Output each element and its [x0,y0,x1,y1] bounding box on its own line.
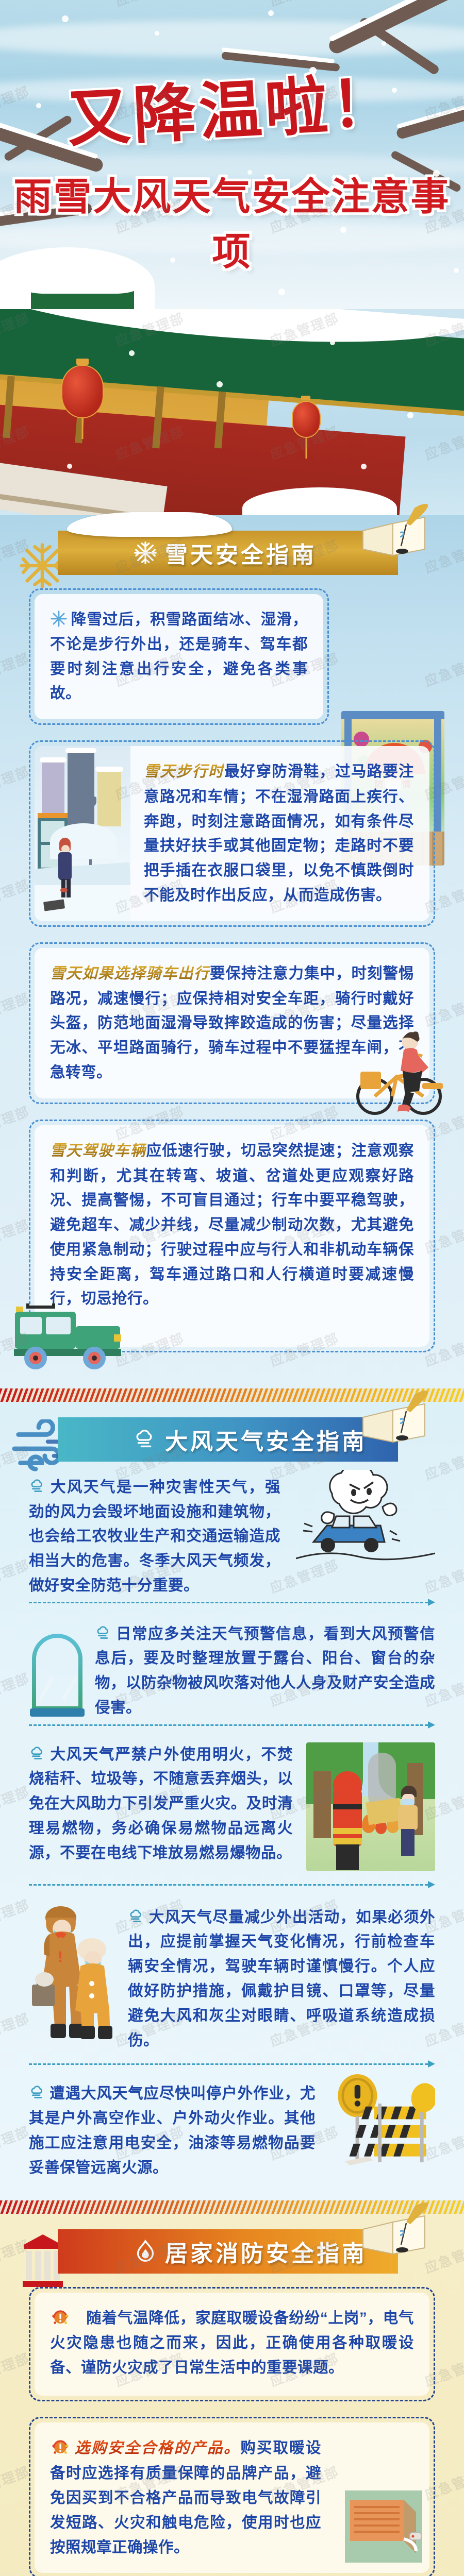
section-snow-guide: 雪天安全指南 [0,515,464,1388]
section-header-fire: 居家消防安全指南 [0,2214,464,2287]
section-header-snow: 雪天安全指南 [0,515,464,588]
flame-icon [133,2239,158,2264]
red-lantern-icon [292,401,321,438]
temple-illustration [0,309,464,515]
card-text: 遭遇大风天气应尽快叫停户外作业，尤其是户外高空作业、户外动火作业。其他施工应注意… [29,2081,316,2180]
divider-arrow [29,1880,435,1889]
card-text: 大风天气尽量减少外出活动，如果必须外出，应提前掌握天气变化情况，行前检查车辆安全… [128,1905,435,2053]
info-card: 雪天步行时最好穿防滑鞋，过马路要注意路况和车情；不在湿滑路面上疾行、奔跑，时刻注… [29,740,435,927]
section-home-fire-guide: 居家消防安全指南 [0,2214,464,2576]
hero-banner: 又降温啦！ 雨雪大风天气安全注意事项 [0,0,464,309]
card-text: 日常应多关注天气预警信息，看到大风预警信息后，要及时整理放置于露台、阳台、窗台的… [95,1622,435,1720]
divider-arrow [29,1598,435,1606]
info-row: 大风天气是一种灾害性天气，强劲的风力会毁坏地面设施和建筑物，也会给工农牧业生产和… [29,1475,435,1598]
electric-blanket-icon [335,2482,427,2570]
page-subtitle: 雨雪大风天气安全注意事项 [0,166,464,276]
alert-circle-icon [50,2437,71,2458]
divider-arrow [29,2060,435,2068]
info-row: 遭遇大风天气应尽快叫停户外作业，尤其是户外高空作业、户外动火作业。其他施工应注意… [29,2081,435,2180]
info-row: ! [29,1902,435,2053]
card-text: 大风天气严禁户外使用明火，不焚烧秸秆、垃圾等，不随意丢弃烟头，以免在大风助力下引… [29,1742,293,1866]
red-lantern-icon [61,365,104,418]
card-text: 雪天驾驶车辆应低速行驶，切忌突然提速；注意观察和判断，尤其在转弯、坡道、岔道处更… [50,1139,414,1311]
info-row: 日常应多关注天气预警信息，看到大风预警信息后，要及时整理放置于露台、阳台、窗台的… [29,1620,435,1721]
section-title: 大风天气安全指南 [165,1423,367,1456]
info-row: 大风天气严禁户外使用明火，不焚烧秸秆、垃圾等，不随意丢弃烟头，以免在大风助力下引… [29,1742,435,1871]
straw-burning-illustration [306,1742,435,1871]
info-card: 雪天驾驶车辆应低速行驶，切忌突然提速；注意观察和判断，尤其在转弯、坡道、岔道处更… [29,1120,435,1352]
infographic-page: 又降温啦！ 雨雪大风天气安全注意事项 [0,0,464,2576]
card-lead: 雪天步行时 [144,764,224,780]
info-card: 随着气温降低，家庭取暖设备纷纷“上岗”，电气火灾隐患也随之而来，因此，正确使用各… [29,2287,435,2401]
card-lead: 雪天如果选择骑车出行 [50,965,210,982]
section-header-wind: 大风天气安全指南 [0,1402,464,1475]
wind-cloud-icon [29,1478,46,1495]
wind-cloud-icon [29,1745,46,1762]
info-card: 降雪过后，积雪路面结冰、湿滑，不论是步行外出，还是骑车、驾车都要时刻注意出行安全… [29,588,329,725]
cyclist-illustration [345,1027,448,1120]
parent-child-illustration: ! [29,1902,122,2041]
card-text: 选购安全合格的产品。购买取暖设备时应选择有质量保障的品牌产品，避免因买到不合格产… [50,2436,321,2560]
window-icon [29,1623,86,1721]
section-title: 居家消防安全指南 [165,2235,367,2268]
alert-circle-icon [50,2307,71,2328]
snowflake-icon [50,610,68,628]
section-wind-guide: 大风天气安全指南 大风天气是一种灾 [0,1402,464,2201]
lantern-cap-icon [76,359,89,365]
page-title: 又降温啦！ [65,69,399,151]
lantern-cap-icon [301,396,310,400]
road-barrier-warning-icon [327,2074,435,2172]
card-text: 随着气温降低，家庭取暖设备纷纷“上岗”，电气火灾隐患也随之而来，因此，正确使用各… [50,2306,414,2380]
card-text: 降雪过后，积雪路面结冰、湿滑，不论是步行外出，还是骑车、驾车都要时刻注意出行安全… [50,607,308,706]
book-quill-icon [361,502,429,563]
wind-cloud-icon [29,2084,46,2102]
svg-text:!: ! [58,1948,63,1965]
card-text: 大风天气是一种灾害性天气，强劲的风力会毁坏地面设施和建筑物，也会给工农牧业生产和… [29,1475,280,1598]
info-card: 选购安全合格的产品。购买取暖设备时应选择有质量保障的品牌产品，避免因买到不合格产… [29,2417,435,2576]
book-quill-icon [361,1388,429,1449]
card-text: 雪天步行时最好穿防滑鞋，过马路要注意路况和车情；不在湿滑路面上疾行、奔跑，时刻注… [144,759,414,908]
info-card: 雪天如果选择骑车出行要保持注意力集中，时刻警惕路况，减速慢行；应保持相对安全车距… [29,942,435,1104]
city-street-illustration [35,746,130,921]
snowflake-icon [133,540,158,565]
divider-arrow [29,1721,435,1729]
section-title: 雪天安全指南 [165,536,317,569]
wind-cloud-icon [133,1427,158,1452]
card-lead: 选购安全合格的产品。 [74,2440,240,2456]
truck-illustration [6,1302,129,1375]
angry-cloud-car-illustration [296,1470,435,1588]
book-quill-icon [361,2200,429,2261]
wind-cloud-icon [95,1624,112,1642]
card-lead: 雪天驾驶车辆 [50,1143,146,1159]
wind-cloud-icon [128,1908,145,1925]
